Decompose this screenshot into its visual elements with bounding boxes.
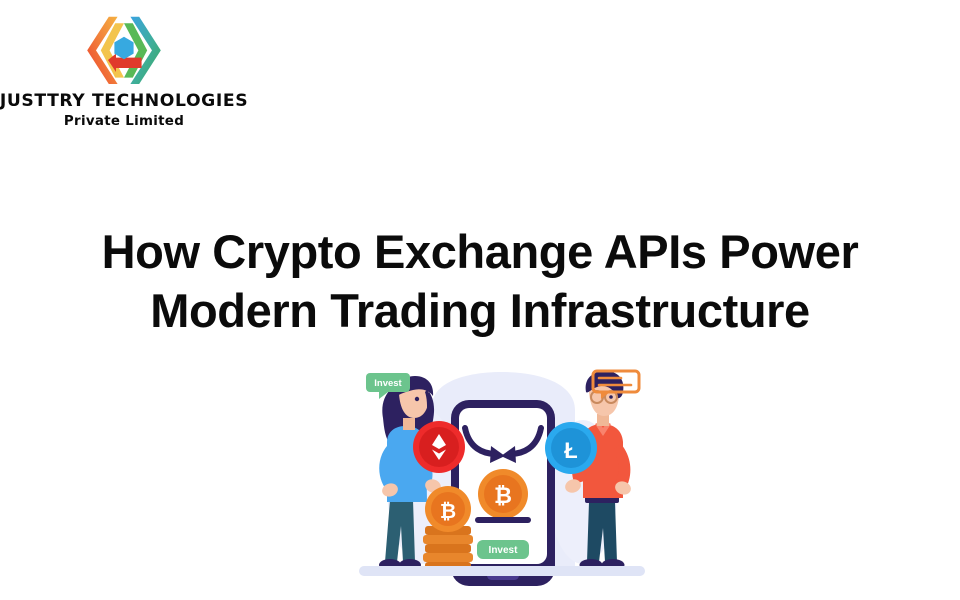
crypto-trading-illustration: Invest ₿ [357,366,647,600]
ethereum-coin [413,421,465,473]
litecoin-coin: Ł [545,422,597,474]
brand-name: JUSTTRY TECHNOLOGIES [0,92,248,111]
invest-bubble-label: Invest [374,378,402,389]
coin-pedestal [475,517,531,523]
illustration-ground-bar [359,566,645,576]
page-title: How Crypto Exchange APIs Power Modern Tr… [0,222,960,340]
brand-subtitle: Private Limited [64,115,184,130]
bitcoin-coin-stack: ₿ [423,486,473,571]
bitcoin-stack-symbol: ₿ [440,501,456,523]
brand-logo-block: JUSTTRY TECHNOLOGIES Private Limited [10,12,238,130]
invest-button[interactable]: Invest [477,540,529,559]
hexagon-code-brackets-logo-icon [76,12,172,88]
litecoin-symbol: Ł [564,438,577,463]
banner-page: JUSTTRY TECHNOLOGIES Private Limited How… [0,0,960,600]
invest-button-label: Invest [489,545,519,556]
bitcoin-symbol: ₿ [494,483,512,508]
